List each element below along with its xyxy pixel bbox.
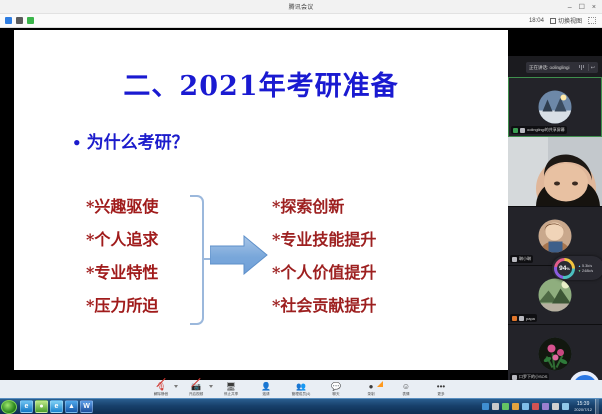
performance-value: 94% [559, 265, 570, 272]
tray-icon-cloud[interactable] [522, 403, 529, 410]
invite-button[interactable]: 👤 邀请 [253, 382, 279, 397]
emoji-icon: ☺ [402, 382, 410, 391]
video-button[interactable]: 📷 开启视频 [183, 382, 209, 397]
record-label: 录制 [367, 392, 374, 397]
close-button[interactable]: × [592, 4, 596, 11]
outcomes-column: *探索创新 *专业技能提升 *个人价值提升 *社会贡献提升 [272, 190, 422, 322]
system-tray: 15:39 2020/7/12 [482, 399, 602, 414]
taskbar-apps: e ● e ▲ W [20, 400, 93, 413]
subtoolbar-right-group: 18:04 切换视图 [529, 16, 602, 25]
mic-icon [519, 316, 524, 321]
more-label: 更多 [437, 392, 444, 397]
browser-icon[interactable]: e [50, 400, 63, 413]
download-rate: 248k/s [578, 269, 593, 273]
avatar [539, 338, 572, 371]
avatar [539, 279, 572, 312]
tray-icon-storage[interactable] [492, 403, 499, 410]
video-tile[interactable]: oolinglingi的共享屏幕 [508, 77, 602, 137]
record-icon: ● [369, 382, 374, 391]
meeting-timer: 18:04 [529, 18, 544, 24]
right-arrow-icon [210, 235, 268, 275]
tile-nameplate: oolinglingi的共享屏幕 [511, 126, 567, 134]
screen-share-icon: 🖥 [226, 382, 236, 391]
switch-view-label: 切换视图 [558, 16, 582, 25]
mic-icon [512, 375, 517, 380]
invite-icon: 👤 [261, 382, 271, 391]
meeting-control-bar: 🎙 解除静音 📷 开启视频 🖥 停止共享 👤 邀请 👥 管理成员(4) 💬 聊天 [0, 380, 602, 398]
back-arrow-icon[interactable]: ↩ [591, 65, 595, 71]
upload-rate: 5.3k/s [578, 264, 593, 268]
active-speaker-banner: 正在讲话: oolinglingi ↩ [526, 62, 598, 73]
shield-icon[interactable] [5, 17, 12, 24]
grid-view-icon [550, 18, 556, 24]
avatar [539, 220, 572, 253]
share-screen-label: 停止共享 [224, 392, 238, 397]
meeting-icon[interactable]: ▲ [65, 400, 78, 413]
meeting-subtoolbar: 18:04 切换视图 [0, 14, 602, 28]
more-icon: ••• [437, 382, 445, 391]
window-titlebar: 腾讯会议 – ☐ × [0, 0, 602, 14]
video-label: 开启视频 [189, 392, 203, 397]
chat-icon: 💬 [331, 382, 341, 391]
emoji-label: 表情 [402, 392, 409, 397]
list-item: *专业特性 [86, 256, 206, 289]
chevron-up-icon[interactable] [209, 385, 213, 388]
tray-icon-app[interactable] [542, 403, 549, 410]
mic-icon [512, 257, 517, 262]
subtoolbar-left-group [0, 17, 34, 24]
shared-slide[interactable]: 二、2021年考研准备 •为什么考研？ *兴趣驱使 *个人追求 *专业特性 *压… [14, 30, 508, 370]
minimize-button[interactable]: – [568, 4, 572, 11]
switch-view-button[interactable]: 切换视图 [550, 16, 582, 25]
ie-icon[interactable]: e [20, 400, 33, 413]
tray-icon-input[interactable] [562, 403, 569, 410]
manage-members-button[interactable]: 👥 管理成员(4) [288, 382, 314, 397]
window-buttons: – ☐ × [568, 0, 600, 14]
manage-members-label: 管理成员(4) [292, 392, 311, 397]
emoji-button[interactable]: ☺ 表情 [393, 382, 419, 397]
tile-nameplate: 琳小琳 [510, 255, 533, 263]
list-item: *社会贡献提升 [272, 289, 422, 322]
tile-name: papa [526, 316, 535, 321]
avatar [539, 91, 572, 124]
tray-icon-security[interactable] [502, 403, 509, 410]
tile-name: 琳小琳 [519, 256, 531, 262]
slide-subtitle-text: 为什么考研？ [87, 133, 189, 153]
chat-button[interactable]: 💬 聊天 [323, 382, 349, 397]
list-item: *专业技能提升 [272, 223, 422, 256]
maximize-button[interactable]: ☐ [579, 4, 585, 11]
start-button[interactable] [1, 400, 17, 414]
invite-label: 邀请 [262, 392, 269, 397]
tray-icon-network[interactable] [482, 403, 489, 410]
grouping-bracket [190, 195, 204, 325]
tile-nameplate: papa [510, 314, 537, 322]
mute-label: 解除静音 [154, 392, 168, 397]
bullet-icon: • [72, 134, 82, 152]
host-badge-icon [512, 316, 517, 321]
screen-root: 腾讯会议 – ☐ × 18:04 切换视图 二、2021年考研准备 [0, 0, 602, 414]
bracket-tip [203, 258, 210, 260]
list-item: *个人价值提升 [272, 256, 422, 289]
record-button[interactable]: ● 录制 [358, 382, 384, 397]
clock-date: 2020/7/12 [574, 407, 592, 413]
taskbar-clock[interactable]: 15:39 2020/7/12 [572, 401, 592, 413]
screen-share-icon [513, 128, 518, 133]
list-item: *个人追求 [86, 223, 206, 256]
more-button[interactable]: ••• 更多 [428, 382, 454, 397]
performance-overlay[interactable]: 94% 5.3k/s 248k/s [552, 256, 602, 280]
members-icon: 👥 [296, 382, 306, 391]
participant-panel: 正在讲话: oolinglingi ↩ [508, 56, 602, 414]
qq-icon[interactable]: ● [35, 400, 48, 413]
tray-icon-update[interactable] [512, 403, 519, 410]
tray-icon-sound[interactable] [552, 403, 559, 410]
fullscreen-icon[interactable] [588, 17, 596, 24]
lock-icon[interactable] [16, 17, 23, 24]
window-title: 腾讯会议 [289, 2, 314, 11]
mute-button[interactable]: 🎙 解除静音 [148, 382, 174, 397]
list-item: *兴趣驱使 [86, 190, 206, 223]
windows-taskbar: e ● e ▲ W 15:39 2020/7/12 [0, 398, 602, 414]
signal-icon[interactable] [27, 17, 34, 24]
network-stats: 5.3k/s 248k/s [578, 264, 593, 273]
divider [588, 64, 589, 71]
mic-icon [520, 128, 525, 133]
slide-title: 二、2021年考研准备 [14, 64, 508, 103]
tile-name: oolinglingi的共享屏幕 [527, 127, 565, 133]
audio-wave-icon [579, 65, 584, 70]
slide-subtitle: •为什么考研？ [72, 128, 189, 153]
active-speaker-label: 正在讲话: oolinglingi [529, 65, 570, 71]
record-badge-icon [377, 381, 383, 387]
share-screen-button[interactable]: 🖥 停止共享 [218, 382, 244, 397]
list-item: *探索创新 [272, 190, 422, 223]
reasons-column: *兴趣驱使 *个人追求 *专业特性 *压力所迫 [86, 190, 206, 322]
tray-icon-alert[interactable] [532, 403, 539, 410]
show-desktop-button[interactable] [595, 399, 599, 414]
cpu-ring-icon: 94% [554, 258, 575, 279]
chat-label: 聊天 [332, 392, 339, 397]
word-icon[interactable]: W [80, 400, 93, 413]
chevron-up-icon[interactable] [174, 385, 178, 388]
meeting-stage: 二、2021年考研准备 •为什么考研？ *兴趣驱使 *个人追求 *专业特性 *压… [0, 28, 602, 398]
list-item: *压力所迫 [86, 289, 206, 322]
video-tile[interactable] [508, 137, 602, 207]
